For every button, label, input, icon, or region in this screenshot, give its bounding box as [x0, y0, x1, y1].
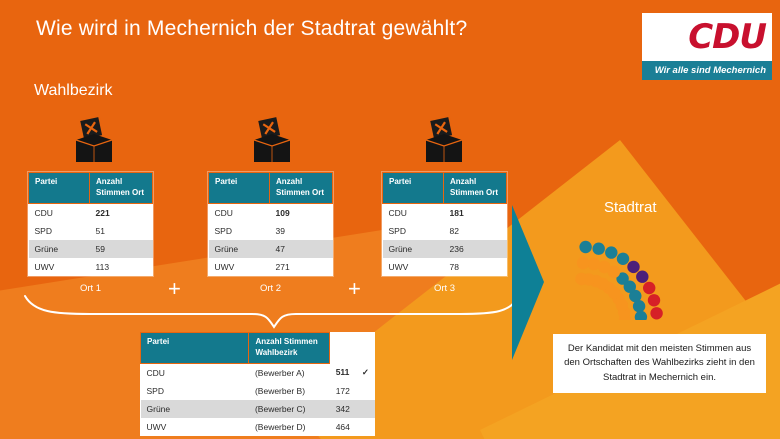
cell-partei: UWV: [383, 258, 444, 276]
ballot-box-icon: [70, 116, 118, 168]
council-seat-diagram: [565, 225, 780, 320]
cell-bewerber: (Bewerber B): [249, 382, 330, 400]
district-table-ort-1: Partei Anzahl Stimmen Ort CDU 221 SPD 51…: [28, 172, 153, 276]
table-header-row: Partei Anzahl Stimmen Ort: [383, 173, 507, 204]
cell-bewerber: (Bewerber A): [249, 363, 330, 382]
cell-partei: CDU: [209, 203, 270, 222]
cell-stimmen: 181: [444, 203, 507, 222]
table-row: Grüne 47: [209, 240, 333, 258]
col-stimmen: Anzahl Stimmen Ort: [270, 173, 333, 204]
cell-stimmen: 342: [330, 400, 356, 418]
cell-partei: SPD: [29, 222, 90, 240]
cell-stimmen: 39: [270, 222, 333, 240]
cdu-logo: CDU Wir alle sind Mechernich: [642, 13, 772, 80]
table-row: CDU (Bewerber A) 511 ✓: [141, 363, 376, 382]
row-mark: [356, 382, 375, 400]
cell-stimmen: 464: [330, 418, 356, 436]
table-row: Grüne 236: [383, 240, 507, 258]
cell-partei: Grüne: [383, 240, 444, 258]
row-mark: [356, 400, 375, 418]
cell-partei: Grüne: [209, 240, 270, 258]
table-header-row: Partei Anzahl Stimmen Wahlbezirk: [141, 333, 376, 364]
flow-arrow-icon: [508, 205, 548, 360]
table-header-row: Partei Anzahl Stimmen Ort: [209, 173, 333, 204]
cell-partei: CDU: [29, 203, 90, 222]
page-title: Wie wird in Mechernich der Stadtrat gewä…: [36, 17, 467, 41]
ballot-box-icon: [248, 116, 296, 168]
table-row: CDU 221: [29, 203, 153, 222]
cell-stimmen: 271: [270, 258, 333, 276]
cell-partei: SPD: [383, 222, 444, 240]
cell-bewerber: (Bewerber D): [249, 418, 330, 436]
cell-partei: UWV: [141, 418, 249, 436]
cdu-logo-wordmark: CDU: [688, 20, 766, 54]
col-partei: Partei: [209, 173, 270, 204]
cell-partei: UWV: [209, 258, 270, 276]
cell-stimmen: 236: [444, 240, 507, 258]
cell-partei: SPD: [141, 382, 249, 400]
cell-stimmen: 82: [444, 222, 507, 240]
table-row: UWV (Bewerber D) 464: [141, 418, 376, 436]
cdu-logo-tagline: Wir alle sind Mechernich: [642, 61, 772, 80]
table-row: SPD 51: [29, 222, 153, 240]
cell-stimmen: 109: [270, 203, 333, 222]
table-row: UWV 271: [209, 258, 333, 276]
cell-partei: Grüne: [141, 400, 249, 418]
district-table-ort-2: Partei Anzahl Stimmen Ort CDU 109 SPD 39…: [208, 172, 333, 276]
section-subtitle: Wahlbezirk: [34, 82, 113, 100]
table-header-row: Partei Anzahl Stimmen Ort: [29, 173, 153, 204]
col-partei: Partei: [383, 173, 444, 204]
slide-canvas: Wie wird in Mechernich der Stadtrat gewä…: [0, 0, 780, 439]
summary-table-wahlbezirk: Partei Anzahl Stimmen Wahlbezirk CDU (Be…: [140, 332, 375, 436]
cell-partei: UWV: [29, 258, 90, 276]
cell-stimmen: 172: [330, 382, 356, 400]
district-table-ort-3: Partei Anzahl Stimmen Ort CDU 181 SPD 82…: [382, 172, 507, 276]
cell-partei: Grüne: [29, 240, 90, 258]
table-row: UWV 78: [383, 258, 507, 276]
cell-stimmen: 221: [90, 203, 153, 222]
table-row: CDU 181: [383, 203, 507, 222]
table-row: SPD 82: [383, 222, 507, 240]
cell-partei: SPD: [209, 222, 270, 240]
aggregation-brace: [20, 282, 520, 330]
col-partei: Partei: [141, 333, 249, 364]
ballot-box-icon: [420, 116, 468, 168]
cell-stimmen: 511: [330, 363, 356, 382]
explanation-box: Der Kandidat mit den meisten Stimmen aus…: [553, 334, 766, 393]
cdu-logo-wordmark-box: CDU: [642, 13, 772, 61]
cell-partei: CDU: [383, 203, 444, 222]
table-row: UWV 113: [29, 258, 153, 276]
col-partei: Partei: [29, 173, 90, 204]
cell-stimmen: 47: [270, 240, 333, 258]
cell-stimmen: 59: [90, 240, 153, 258]
cell-stimmen: 78: [444, 258, 507, 276]
col-stimmen: Anzahl Stimmen Ort: [444, 173, 507, 204]
table-row: SPD 39: [209, 222, 333, 240]
table-row: CDU 109: [209, 203, 333, 222]
col-stimmen-wahlbezirk: Anzahl Stimmen Wahlbezirk: [249, 333, 330, 364]
table-row: SPD (Bewerber B) 172: [141, 382, 376, 400]
cell-stimmen: 113: [90, 258, 153, 276]
col-stimmen: Anzahl Stimmen Ort: [90, 173, 153, 204]
table-row: Grüne (Bewerber C) 342: [141, 400, 376, 418]
cell-bewerber: (Bewerber C): [249, 400, 330, 418]
cell-partei: CDU: [141, 363, 249, 382]
council-label: Stadtrat: [604, 199, 657, 216]
row-mark: [356, 418, 375, 436]
table-row: Grüne 59: [29, 240, 153, 258]
winner-check-icon: ✓: [356, 363, 375, 382]
cell-stimmen: 51: [90, 222, 153, 240]
